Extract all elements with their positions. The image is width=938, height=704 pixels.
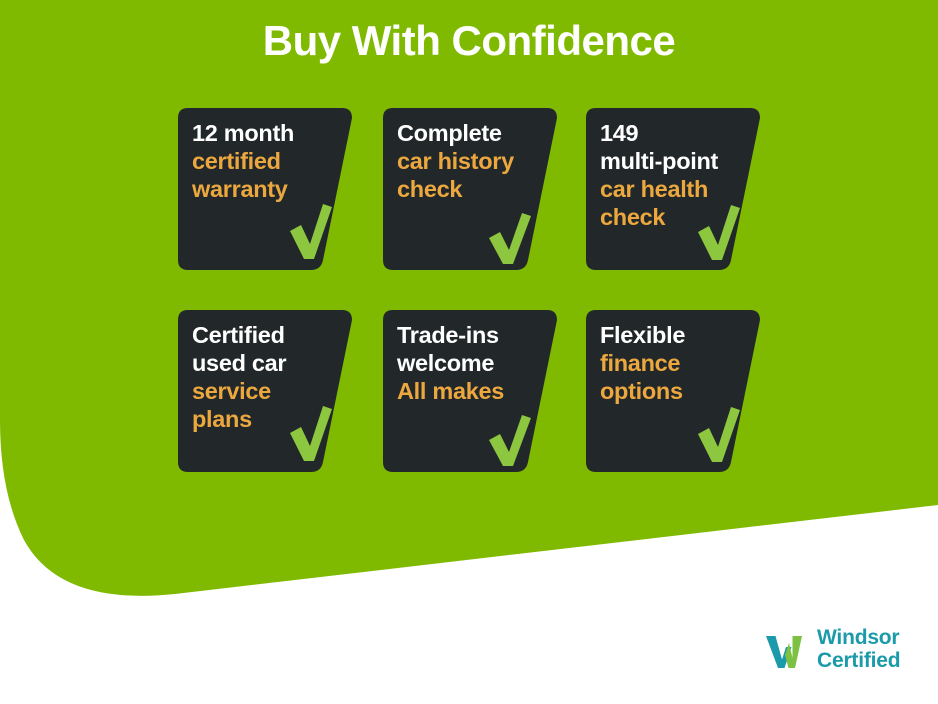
brand-logo-text: Windsor Certified xyxy=(817,627,900,673)
card-line: welcome xyxy=(397,350,547,378)
card-line: Trade-ins xyxy=(397,322,547,350)
card-line: car health xyxy=(600,176,750,204)
card-text-block: Trade-ins welcome All makes xyxy=(397,322,547,406)
benefit-card: Flexible finance options xyxy=(586,310,764,472)
page-title: Buy With Confidence xyxy=(0,18,938,64)
card-text-block: Flexible finance options xyxy=(600,322,750,406)
benefit-card: 12 month certified warranty xyxy=(178,108,356,270)
card-line: Complete xyxy=(397,120,547,148)
card-line: plans xyxy=(192,406,342,434)
benefit-card-grid: 12 month certified warranty Complete car… xyxy=(0,0,938,704)
card-line: service xyxy=(192,378,342,406)
benefit-card: Certified used car service plans xyxy=(178,310,356,472)
poster-canvas: Buy With Confidence 12 month certified w… xyxy=(0,0,938,704)
card-line: used car xyxy=(192,350,342,378)
brand-line-certified: Certified xyxy=(817,650,900,673)
card-line: options xyxy=(600,378,750,406)
brand-line-windsor: Windsor xyxy=(817,627,900,650)
card-line: All makes xyxy=(397,378,547,406)
brand-logo: Windsor Certified xyxy=(762,626,900,674)
card-line: certified xyxy=(192,148,342,176)
card-line: Flexible xyxy=(600,322,750,350)
windsor-w-icon xyxy=(762,626,810,674)
card-text-block: 149 multi-point car health check xyxy=(600,120,750,232)
card-text-block: 12 month certified warranty xyxy=(192,120,342,204)
benefit-card: Trade-ins welcome All makes xyxy=(383,310,561,472)
card-line: finance xyxy=(600,350,750,378)
benefit-card: 149 multi-point car health check xyxy=(586,108,764,270)
card-text-block: Complete car history check xyxy=(397,120,547,204)
card-line: 12 month xyxy=(192,120,342,148)
card-line: Certified xyxy=(192,322,342,350)
card-text-block: Certified used car service plans xyxy=(192,322,342,434)
card-line: check xyxy=(397,176,547,204)
card-line: multi-point xyxy=(600,148,750,176)
benefit-card: Complete car history check xyxy=(383,108,561,270)
card-line: warranty xyxy=(192,176,342,204)
card-line: car history xyxy=(397,148,547,176)
card-line: 149 xyxy=(600,120,750,148)
card-line: check xyxy=(600,204,750,232)
